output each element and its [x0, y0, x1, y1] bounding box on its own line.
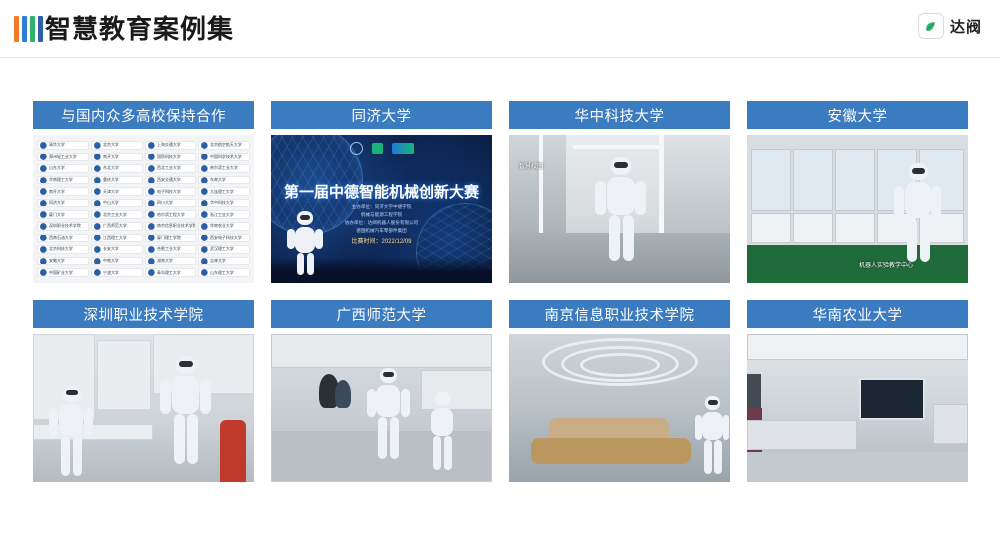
university-logo-label: 哈尔滨工业大学 [210, 166, 238, 170]
card-title: 广西师范大学 [271, 300, 492, 328]
university-logo-wall: 清华大学北京大学上海交通大学北京航空航天大学郑州轻工业大学南开大学国防科技大学中… [33, 135, 254, 283]
university-logo-label: 吉林大学 [210, 259, 226, 263]
case-card[interactable]: 同济大学 第一届中德智能机械创新大赛 主办单位：同济大学中德学院 机械与能源工程… [271, 101, 492, 283]
university-seal-icon [94, 165, 101, 172]
university-logo-item: 南京信息职业技术学院 [145, 222, 197, 231]
university-seal-icon [148, 211, 155, 218]
university-logo-label: 中国矿业大学 [49, 271, 73, 275]
university-seal-icon [40, 246, 47, 253]
university-logo-label: 深圳职业技术学院 [49, 224, 81, 228]
university-seal-icon [40, 165, 47, 172]
case-card[interactable]: 与国内众多高校保持合作 清华大学北京大学上海交通大学北京航空航天大学郑州轻工业大… [33, 101, 254, 283]
university-seal-icon [94, 211, 101, 218]
university-seal-icon [94, 188, 101, 195]
university-seal-icon [40, 223, 47, 230]
university-seal-icon [40, 154, 47, 161]
brand-lockup: 达阀 [918, 13, 982, 39]
university-logo-label: 电子科技大学 [157, 190, 181, 194]
university-seal-icon [148, 142, 155, 149]
university-logo-label: 东南大学 [210, 178, 226, 182]
university-logo-label: 浙江工业大学 [210, 213, 234, 217]
card-title: 华南农业大学 [747, 300, 968, 328]
overlay-caption: 机器人实验教学中心 [859, 260, 913, 269]
university-logo-label: 安徽大学 [49, 259, 65, 263]
university-logo-item: 北京科技大学 [37, 245, 89, 254]
university-logo-label: 长安大学 [103, 248, 119, 252]
card-thumbnail-office [747, 334, 968, 482]
university-logo-item: 西安交通大学 [145, 176, 197, 185]
university-seal-icon [201, 188, 208, 195]
poster-brand-marks [350, 142, 414, 155]
card-title: 与国内众多高校保持合作 [33, 101, 254, 129]
robot-silhouette-icon [49, 386, 93, 478]
university-seal-icon [40, 269, 47, 276]
university-seal-icon [94, 246, 101, 253]
university-logo-label: 上海交通大学 [157, 143, 181, 147]
university-logo-item: 浙江工业大学 [198, 210, 250, 219]
sponsor-logo-icon [372, 143, 383, 154]
university-seal-icon [201, 223, 208, 230]
robot-silhouette-icon [423, 392, 461, 472]
university-logo-item: 北京工业大学 [91, 210, 143, 219]
university-logo-item: 北京航空航天大学 [198, 141, 250, 150]
corridor-photo: 智慧校园 [509, 135, 730, 283]
university-seal-icon [40, 188, 47, 195]
university-logo-label: 山东大学 [49, 166, 65, 170]
university-seal-icon [94, 154, 101, 161]
university-seal-icon [201, 269, 208, 276]
university-logo-item: 东北大学 [91, 164, 143, 173]
university-seal-icon [201, 142, 208, 149]
university-seal-icon [94, 258, 101, 265]
university-seal-icon [350, 142, 363, 155]
university-seal-icon [201, 246, 208, 253]
university-logo-label: 同济大学 [49, 201, 65, 205]
card-title: 南京信息职业技术学院 [509, 300, 730, 328]
university-logo-item: 合肥工业大学 [145, 245, 197, 254]
university-logo-item: 四川大学 [145, 199, 197, 208]
university-logo-item: 重庆大学 [91, 176, 143, 185]
university-logo-item: 宁波大学 [91, 268, 143, 277]
university-logo-label: 中山大学 [103, 201, 119, 205]
person-silhouette [335, 380, 351, 408]
university-logo-label: 湖南大学 [157, 259, 173, 263]
university-seal-icon [201, 200, 208, 207]
university-logo-item: 华南农业大学 [198, 222, 250, 231]
partner-logo-icon [392, 143, 414, 154]
university-logo-item: 武汉理工大学 [198, 245, 250, 254]
case-card[interactable]: 安徽大学 [747, 101, 968, 283]
university-seal-icon [148, 269, 155, 276]
university-logo-item: 长安大学 [91, 245, 143, 254]
university-logo-item: 中山大学 [91, 199, 143, 208]
university-logo-item: 青岛理工大学 [145, 268, 197, 277]
university-seal-icon [148, 154, 155, 161]
university-logo-label: 华南理工大学 [49, 178, 73, 182]
card-title: 安徽大学 [747, 101, 968, 129]
university-logo-item: 中国矿业大学 [37, 268, 89, 277]
card-thumbnail-hall [509, 334, 730, 482]
robot-silhouette-icon [367, 368, 409, 460]
university-logo-label: 天津大学 [103, 190, 119, 194]
university-logo-label: 厦门大学 [49, 213, 65, 217]
university-logo-label: 厦门理工学院 [157, 236, 181, 240]
university-logo-item: 中南大学 [91, 257, 143, 266]
university-seal-icon [201, 258, 208, 265]
university-logo-label: 南开大学 [49, 190, 65, 194]
university-seal-icon [148, 235, 155, 242]
university-logo-label: 哈尔滨工程大学 [157, 213, 185, 217]
case-card[interactable]: 广西师范大学 [271, 300, 492, 482]
university-logo-item: 上海交通大学 [145, 141, 197, 150]
university-logo-label: 武汉理工大学 [210, 248, 234, 252]
leaf-logo-icon [918, 13, 944, 39]
university-seal-icon [201, 235, 208, 242]
university-logo-item: 南开大学 [91, 153, 143, 162]
lab-photo: 机器人实验教学中心 [747, 135, 968, 283]
university-seal-icon [94, 223, 101, 230]
university-logo-label: 重庆大学 [103, 178, 119, 182]
office-photo [747, 334, 968, 482]
university-logo-item: 华中科技大学 [198, 199, 250, 208]
university-logo-label: 西安交通大学 [157, 178, 181, 182]
poster-line: 主办单位：同济大学中德学院 [352, 205, 412, 210]
university-seal-icon [94, 235, 101, 242]
logo-bars-icon [14, 16, 43, 42]
university-logo-item: 西安电子科技大学 [198, 234, 250, 243]
university-logo-item: 广西师范大学 [91, 222, 143, 231]
university-logo-item: 吉林大学 [198, 257, 250, 266]
university-seal-icon [148, 246, 155, 253]
card-title: 同济大学 [271, 101, 492, 129]
university-seal-icon [201, 177, 208, 184]
university-logo-item: 哈尔滨工程大学 [145, 210, 197, 219]
university-seal-icon [148, 165, 155, 172]
university-logo-label: 华南农业大学 [210, 224, 234, 228]
university-seal-icon [40, 211, 47, 218]
university-seal-icon [148, 188, 155, 195]
university-logo-label: 江西理工大学 [103, 236, 127, 240]
card-title: 华中科技大学 [509, 101, 730, 129]
robot-silhouette-icon [159, 356, 211, 466]
card-thumbnail-showroom [33, 334, 254, 482]
university-logo-item: 中国科学技术大学 [198, 153, 250, 162]
university-logo-item: 厦门大学 [37, 210, 89, 219]
university-logo-item: 哈尔滨工业大学 [198, 164, 250, 173]
university-seal-icon [94, 269, 101, 276]
university-logo-label: 四川大学 [157, 201, 173, 205]
case-card[interactable]: 华中科技大学 智慧校园 [509, 101, 730, 283]
university-logo-label: 南京信息职业技术学院 [157, 224, 197, 228]
university-logo-label: 西南石油大学 [49, 236, 73, 240]
university-seal-icon [40, 142, 47, 149]
university-seal-icon [94, 142, 101, 149]
university-logo-label: 东北大学 [103, 166, 119, 170]
university-logo-item: 大连理工大学 [198, 187, 250, 196]
circular-hall-photo [509, 334, 730, 482]
university-logo-label: 青岛理工大学 [157, 271, 181, 275]
card-thumbnail-corridor: 智慧校园 [509, 135, 730, 283]
poster-headline: 第一届中德智能机械创新大赛 [284, 181, 479, 202]
poster-line: 机械与能源工程学院 [361, 213, 402, 218]
university-logo-item: 华南理工大学 [37, 176, 89, 185]
university-logo-label: 中南大学 [103, 259, 119, 263]
university-logo-label: 北京大学 [103, 143, 119, 147]
university-seal-icon [40, 258, 47, 265]
university-seal-icon [94, 200, 101, 207]
university-logo-item: 安徽大学 [37, 257, 89, 266]
university-logo-label: 国防科技大学 [157, 155, 181, 159]
university-logo-label: 清华大学 [49, 143, 65, 147]
card-title: 深圳职业技术学院 [33, 300, 254, 328]
case-card[interactable]: 华南农业大学 [747, 300, 968, 482]
header-divider [0, 57, 1000, 58]
university-logo-label: 西安电子科技大学 [210, 236, 242, 240]
university-logo-label: 北京工业大学 [103, 213, 127, 217]
university-logo-item: 天津大学 [91, 187, 143, 196]
poster-line: 协办单位：达阀机器人股份有限公司 [345, 221, 419, 226]
university-logo-item: 西北工业大学 [145, 164, 197, 173]
classroom-photo [271, 334, 492, 482]
university-seal-icon [40, 235, 47, 242]
card-thumbnail-universities: 清华大学北京大学上海交通大学北京航空航天大学郑州轻工业大学南开大学国防科技大学中… [33, 135, 254, 283]
university-logo-label: 北京科技大学 [49, 248, 73, 252]
university-logo-label: 山东理工大学 [210, 271, 234, 275]
university-logo-label: 宁波大学 [103, 271, 119, 275]
university-logo-label: 大连理工大学 [210, 190, 234, 194]
university-seal-icon [148, 177, 155, 184]
display-screen [859, 378, 925, 420]
poster-date: 比赛时间：2022/12/09 [351, 239, 411, 245]
university-seal-icon [201, 154, 208, 161]
case-card[interactable]: 南京信息职业技术学院 [509, 300, 730, 482]
university-seal-icon [94, 177, 101, 184]
robot-silhouette-icon [695, 396, 729, 476]
university-logo-label: 郑州轻工业大学 [49, 155, 77, 159]
university-logo-item: 山东大学 [37, 164, 89, 173]
university-logo-item: 郑州轻工业大学 [37, 153, 89, 162]
university-logo-label: 华中科技大学 [210, 201, 234, 205]
university-logo-item: 深圳职业技术学院 [37, 222, 89, 231]
poster-line: 德国机械汽车零部件集团 [356, 229, 407, 234]
robot-silhouette-icon [285, 211, 325, 277]
robot-silhouette-icon [893, 163, 941, 269]
page-header: 智慧教育案例集 达阀 [0, 0, 1000, 58]
university-logo-item: 清华大学 [37, 141, 89, 150]
robot-silhouette-icon [593, 157, 647, 269]
person-silhouette [747, 374, 761, 408]
showroom-photo [33, 334, 254, 482]
university-seal-icon [201, 211, 208, 218]
university-seal-icon [201, 165, 208, 172]
university-logo-item: 南开大学 [37, 187, 89, 196]
university-logo-item: 厦门理工学院 [145, 234, 197, 243]
university-logo-label: 西北工业大学 [157, 166, 181, 170]
university-logo-item: 江西理工大学 [91, 234, 143, 243]
brand-name: 达阀 [950, 16, 982, 37]
university-logo-item: 电子科技大学 [145, 187, 197, 196]
case-card[interactable]: 深圳职业技术学院 [33, 300, 254, 482]
university-seal-icon [148, 258, 155, 265]
university-logo-label: 合肥工业大学 [157, 248, 181, 252]
university-seal-icon [40, 177, 47, 184]
university-seal-icon [40, 200, 47, 207]
university-logo-item: 国防科技大学 [145, 153, 197, 162]
red-pillar [220, 420, 246, 482]
card-thumbnail-poster: 第一届中德智能机械创新大赛 主办单位：同济大学中德学院 机械与能源工程学院 协办… [271, 135, 492, 283]
university-seal-icon [148, 223, 155, 230]
university-logo-item: 东南大学 [198, 176, 250, 185]
page-title: 智慧教育案例集 [45, 10, 234, 48]
university-logo-item: 同济大学 [37, 199, 89, 208]
university-seal-icon [148, 200, 155, 207]
case-card-grid: 与国内众多高校保持合作 清华大学北京大学上海交通大学北京航空航天大学郑州轻工业大… [33, 101, 968, 482]
university-logo-label: 中国科学技术大学 [210, 155, 242, 159]
university-logo-label: 南开大学 [103, 155, 119, 159]
university-logo-item: 西南石油大学 [37, 234, 89, 243]
card-thumbnail-classroom [271, 334, 492, 482]
university-logo-label: 广西师范大学 [103, 224, 127, 228]
university-logo-label: 北京航空航天大学 [210, 143, 242, 147]
card-thumbnail-lab: 机器人实验教学中心 [747, 135, 968, 283]
overlay-caption: 智慧校园 [519, 161, 543, 170]
university-logo-item: 山东理工大学 [198, 268, 250, 277]
university-logo-item: 湖南大学 [145, 257, 197, 266]
university-logo-item: 北京大学 [91, 141, 143, 150]
competition-poster: 第一届中德智能机械创新大赛 主办单位：同济大学中德学院 机械与能源工程学院 协办… [271, 135, 492, 283]
